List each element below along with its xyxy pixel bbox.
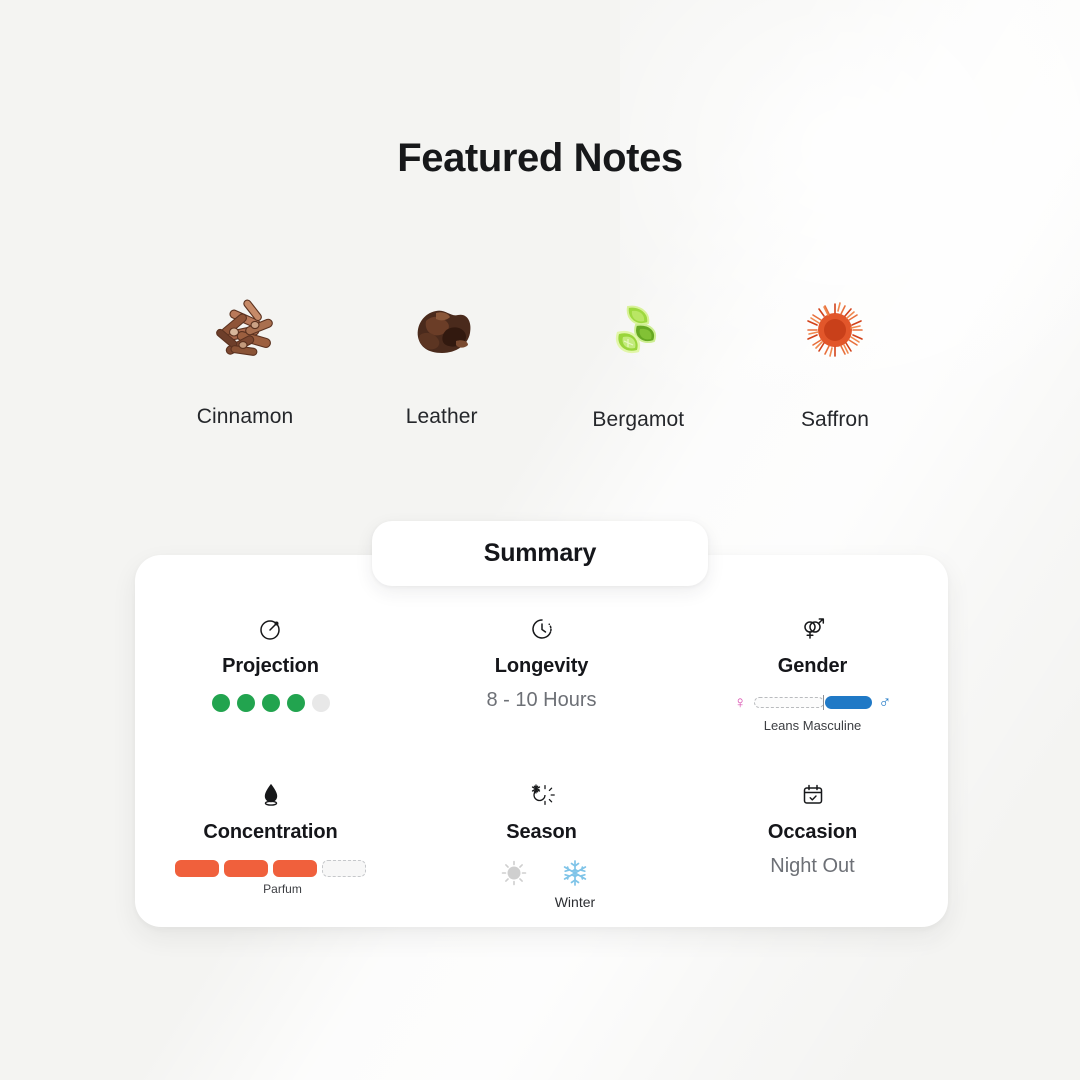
metric-gender: Gender ♀ ♂ Leans Masculine: [677, 595, 948, 761]
sun-icon: [499, 858, 529, 888]
rating-dot: [312, 694, 330, 712]
projection-rating-dots: [212, 694, 330, 712]
calendar-check-icon: [800, 781, 826, 809]
saffron-threads-icon: [789, 285, 881, 377]
concentration-caption: Parfum: [263, 882, 302, 896]
note-item-saffron[interactable]: Saffron: [740, 285, 930, 432]
note-label: Leather: [406, 405, 478, 429]
season-option-winter[interactable]: Winter: [555, 858, 595, 910]
concentration-bar: [175, 860, 219, 877]
gender-caption: Leans Masculine: [764, 718, 862, 733]
metric-title: Projection: [222, 655, 319, 678]
page-title: Featured Notes: [0, 136, 1080, 181]
metric-projection: Projection: [135, 595, 406, 761]
note-label: Bergamot: [592, 408, 684, 432]
concentration-bar: [273, 860, 317, 877]
metric-title: Concentration: [203, 821, 337, 844]
clock-icon: [529, 615, 555, 643]
page-root: Featured Notes: [0, 0, 1080, 1080]
gender-slider-tick: [823, 695, 824, 710]
note-item-leather[interactable]: Leather: [347, 285, 537, 429]
metric-concentration: Concentration Parfum: [135, 761, 406, 927]
metric-title: Longevity: [495, 655, 589, 678]
droplet-icon: [258, 781, 284, 809]
featured-notes-list: Cinnamon Leather: [150, 285, 930, 432]
summary-pill-label: Summary: [484, 539, 597, 568]
season-caption: Winter: [555, 894, 595, 910]
summary-pill: Summary: [372, 521, 708, 586]
season-option-summer[interactable]: Summer: [488, 858, 541, 910]
metric-longevity: Longevity 8 - 10 Hours: [406, 595, 677, 761]
concentration-bars: [175, 860, 366, 877]
gender-symbols-icon: [799, 615, 827, 643]
occasion-value: Night Out: [770, 855, 854, 878]
metric-occasion: Occasion Night Out: [677, 761, 948, 927]
sun-snowflake-icon: [528, 781, 556, 809]
bergamot-lime-icon: [592, 285, 684, 377]
gauge-icon: [258, 615, 284, 643]
gender-slider-track[interactable]: [754, 695, 872, 710]
rating-dot: [262, 694, 280, 712]
metric-season: Season Summer: [406, 761, 677, 927]
note-item-bergamot[interactable]: Bergamot: [543, 285, 733, 432]
gender-slider[interactable]: ♀ ♂: [734, 694, 892, 711]
venus-icon: ♀: [734, 694, 747, 711]
note-label: Cinnamon: [197, 405, 294, 429]
longevity-value: 8 - 10 Hours: [486, 689, 596, 712]
cinnamon-sticks-icon: [199, 285, 291, 377]
note-item-cinnamon[interactable]: Cinnamon: [150, 285, 340, 429]
rating-dot: [212, 694, 230, 712]
metric-title: Occasion: [768, 821, 857, 844]
rating-dot: [287, 694, 305, 712]
snowflake-icon: [560, 858, 590, 888]
note-label: Saffron: [801, 408, 869, 432]
concentration-bar: [224, 860, 268, 877]
season-options: Summer Winter: [488, 858, 595, 910]
mars-icon: ♂: [879, 694, 892, 711]
metric-title: Season: [506, 821, 577, 844]
gender-slider-fill: [825, 696, 872, 709]
summary-metrics-grid: Projection Longevity 8 - 10 Hours: [135, 595, 948, 927]
metric-title: Gender: [778, 655, 847, 678]
concentration-bar: [322, 860, 366, 877]
gender-slider-empty: [754, 697, 824, 708]
rating-dot: [237, 694, 255, 712]
leather-icon: [396, 285, 488, 377]
